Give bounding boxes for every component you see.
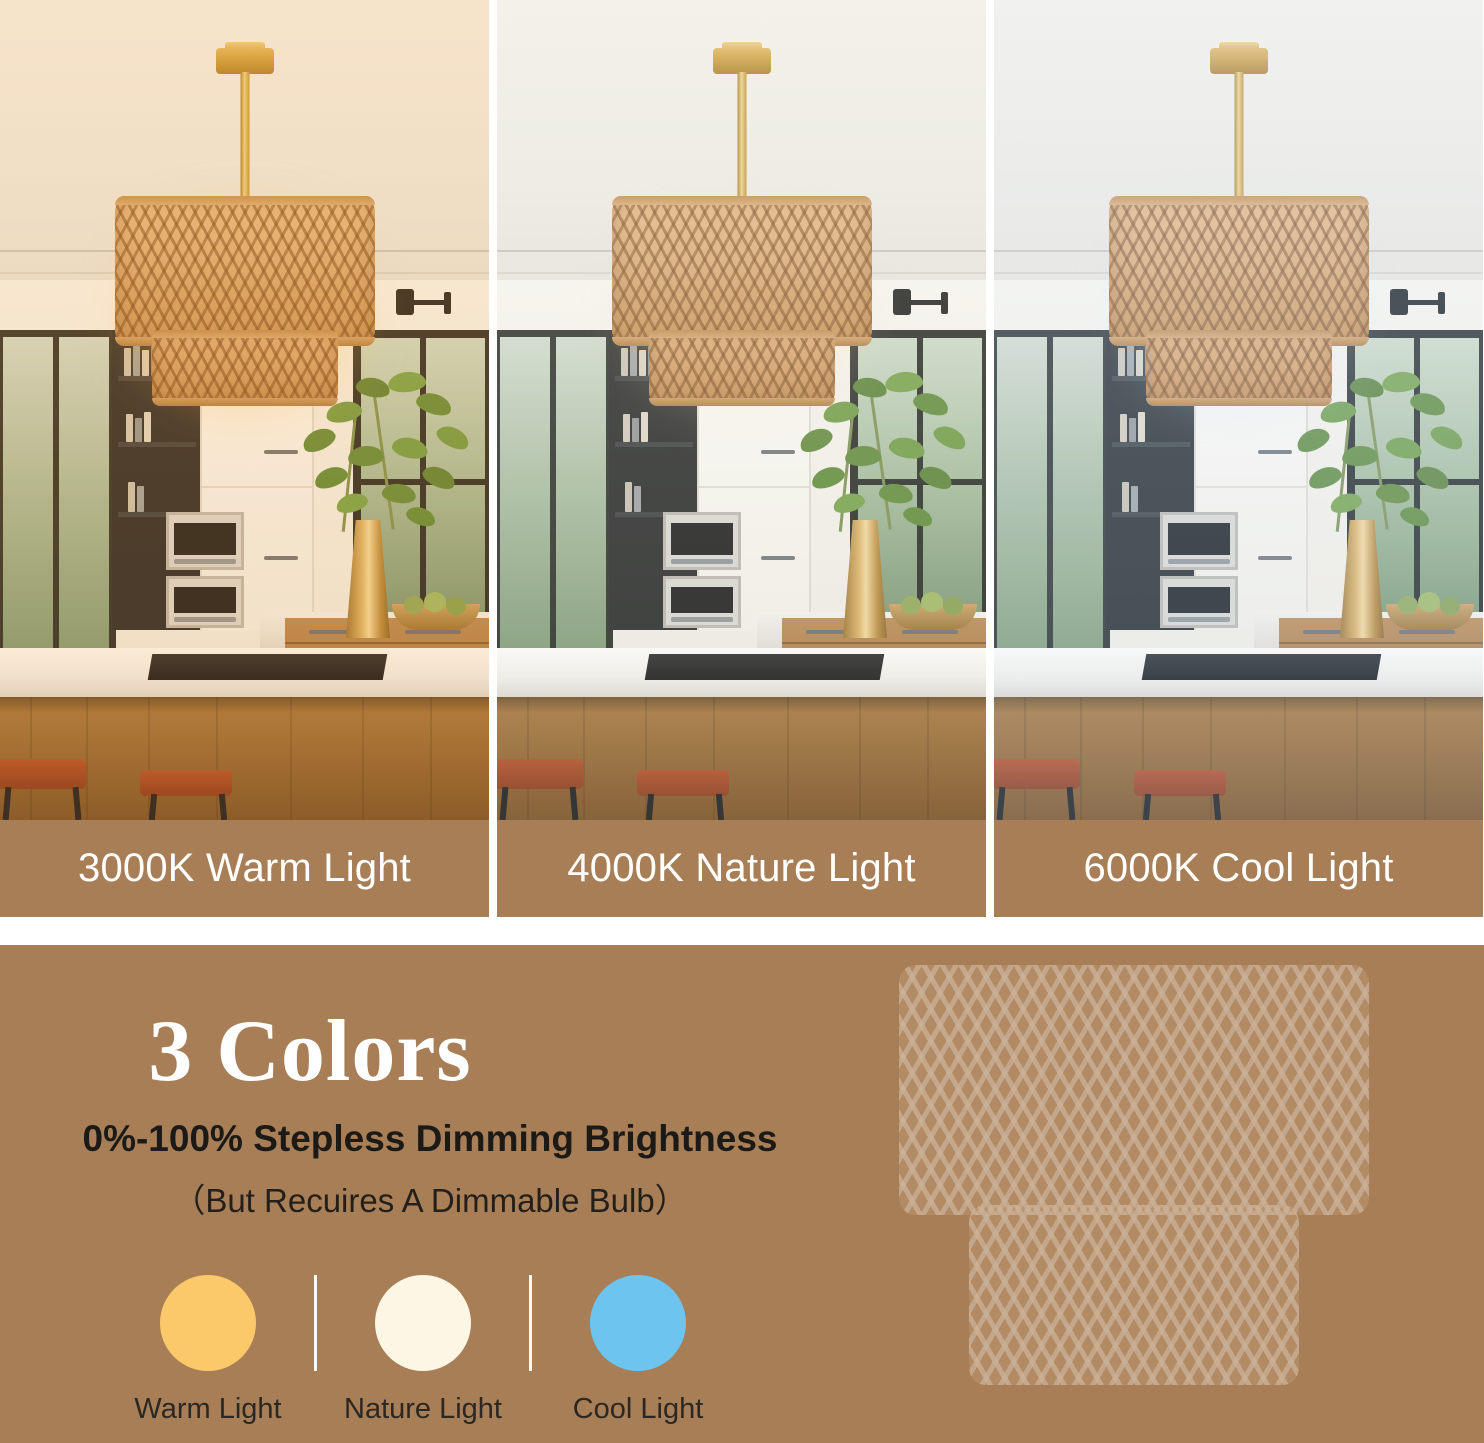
brass-rod	[1234, 72, 1243, 207]
caption-cool-light: 6000K Cool Light	[994, 820, 1483, 917]
cool-light-color-dot	[590, 1275, 686, 1371]
bowl-produce	[404, 596, 424, 614]
caption-warm-light: 3000K Warm Light	[0, 820, 489, 917]
brass-canopy	[1210, 48, 1268, 74]
banner-subline-secondary: （But Recuires A Dimmable Bulb）	[0, 1174, 860, 1222]
kitchen-photo-warm	[0, 0, 489, 820]
comparison-panel-warm-light: 3000K Warm Light	[0, 0, 489, 917]
banner-subline: 0%-100% Stepless Dimming Brightness	[0, 1118, 860, 1160]
kitchen-scene	[497, 0, 986, 820]
swatch-warm-light: Warm Light	[108, 1275, 308, 1426]
cool-light-label: Cool Light	[573, 1393, 704, 1426]
induction-cooktop	[148, 654, 388, 680]
kitchen-scene	[0, 0, 489, 820]
bowl-produce	[921, 592, 943, 612]
bowl-produce	[446, 597, 466, 615]
inner-rattan-shade	[1146, 330, 1332, 406]
rattan-chandelier	[0, 0, 489, 420]
chandelier-watermark-art	[824, 945, 1444, 1443]
induction-cooktop	[645, 654, 885, 680]
wall-oven-upper	[166, 512, 244, 570]
rattan-chandelier	[994, 0, 1483, 420]
nature-light-color-dot	[375, 1275, 471, 1371]
bar-stool	[0, 725, 104, 820]
color-temperature-comparison-strip: 3000K Warm Light	[0, 0, 1484, 917]
banner-text-block: 3 Colors 0%-100% Stepless Dimming Bright…	[0, 945, 900, 1222]
bowl-produce	[1440, 597, 1460, 615]
island-shadow	[0, 697, 489, 713]
bowl-produce	[424, 592, 446, 612]
wall-oven-lower	[166, 576, 244, 628]
bar-stool	[1134, 750, 1244, 820]
island-shadow	[994, 697, 1483, 713]
watermark-inner-ring	[969, 1205, 1299, 1385]
comparison-panel-cool-light: 6000K Cool Light	[994, 0, 1483, 917]
kitchen-photo-nature	[497, 0, 986, 820]
kitchen-photo-cool	[994, 0, 1483, 820]
inner-rattan-shade	[649, 330, 835, 406]
warm-light-color-dot	[160, 1275, 256, 1371]
induction-cooktop	[1142, 654, 1382, 680]
outer-rattan-shade	[1109, 196, 1369, 346]
kitchen-scene	[994, 0, 1483, 820]
three-colors-banner: 3 Colors 0%-100% Stepless Dimming Bright…	[0, 945, 1484, 1443]
brass-rod	[240, 72, 249, 207]
warm-light-label: Warm Light	[134, 1393, 281, 1426]
bowl-produce	[901, 596, 921, 614]
banner-headline: 3 Colors	[0, 1001, 620, 1102]
bowl-produce	[1398, 596, 1418, 614]
brass-rod	[737, 72, 746, 207]
bar-stool	[637, 750, 747, 820]
wall-oven-lower	[663, 576, 741, 628]
island-shadow	[497, 697, 986, 713]
bar-stool	[994, 725, 1098, 820]
swatch-divider	[314, 1275, 317, 1371]
wall-oven-upper	[1160, 512, 1238, 570]
bar-stool	[497, 725, 601, 820]
rattan-chandelier	[497, 0, 986, 420]
outer-rattan-shade	[612, 196, 872, 346]
swatch-divider	[529, 1275, 532, 1371]
bar-stool	[140, 750, 250, 820]
inner-rattan-shade	[152, 330, 338, 406]
outer-rattan-shade	[115, 196, 375, 346]
swatch-cool-light: Cool Light	[538, 1275, 738, 1426]
wall-oven-upper	[663, 512, 741, 570]
comparison-panel-nature-light: 4000K Nature Light	[497, 0, 986, 917]
watermark-outer-ring	[899, 965, 1369, 1215]
caption-nature-light: 4000K Nature Light	[497, 820, 986, 917]
swatch-nature-light: Nature Light	[323, 1275, 523, 1426]
color-swatch-row: Warm Light Nature Light Cool Light	[108, 1275, 738, 1426]
nature-light-label: Nature Light	[344, 1393, 502, 1426]
brass-canopy	[713, 48, 771, 74]
bowl-produce	[943, 597, 963, 615]
wall-oven-lower	[1160, 576, 1238, 628]
bowl-produce	[1418, 592, 1440, 612]
brass-canopy	[216, 48, 274, 74]
